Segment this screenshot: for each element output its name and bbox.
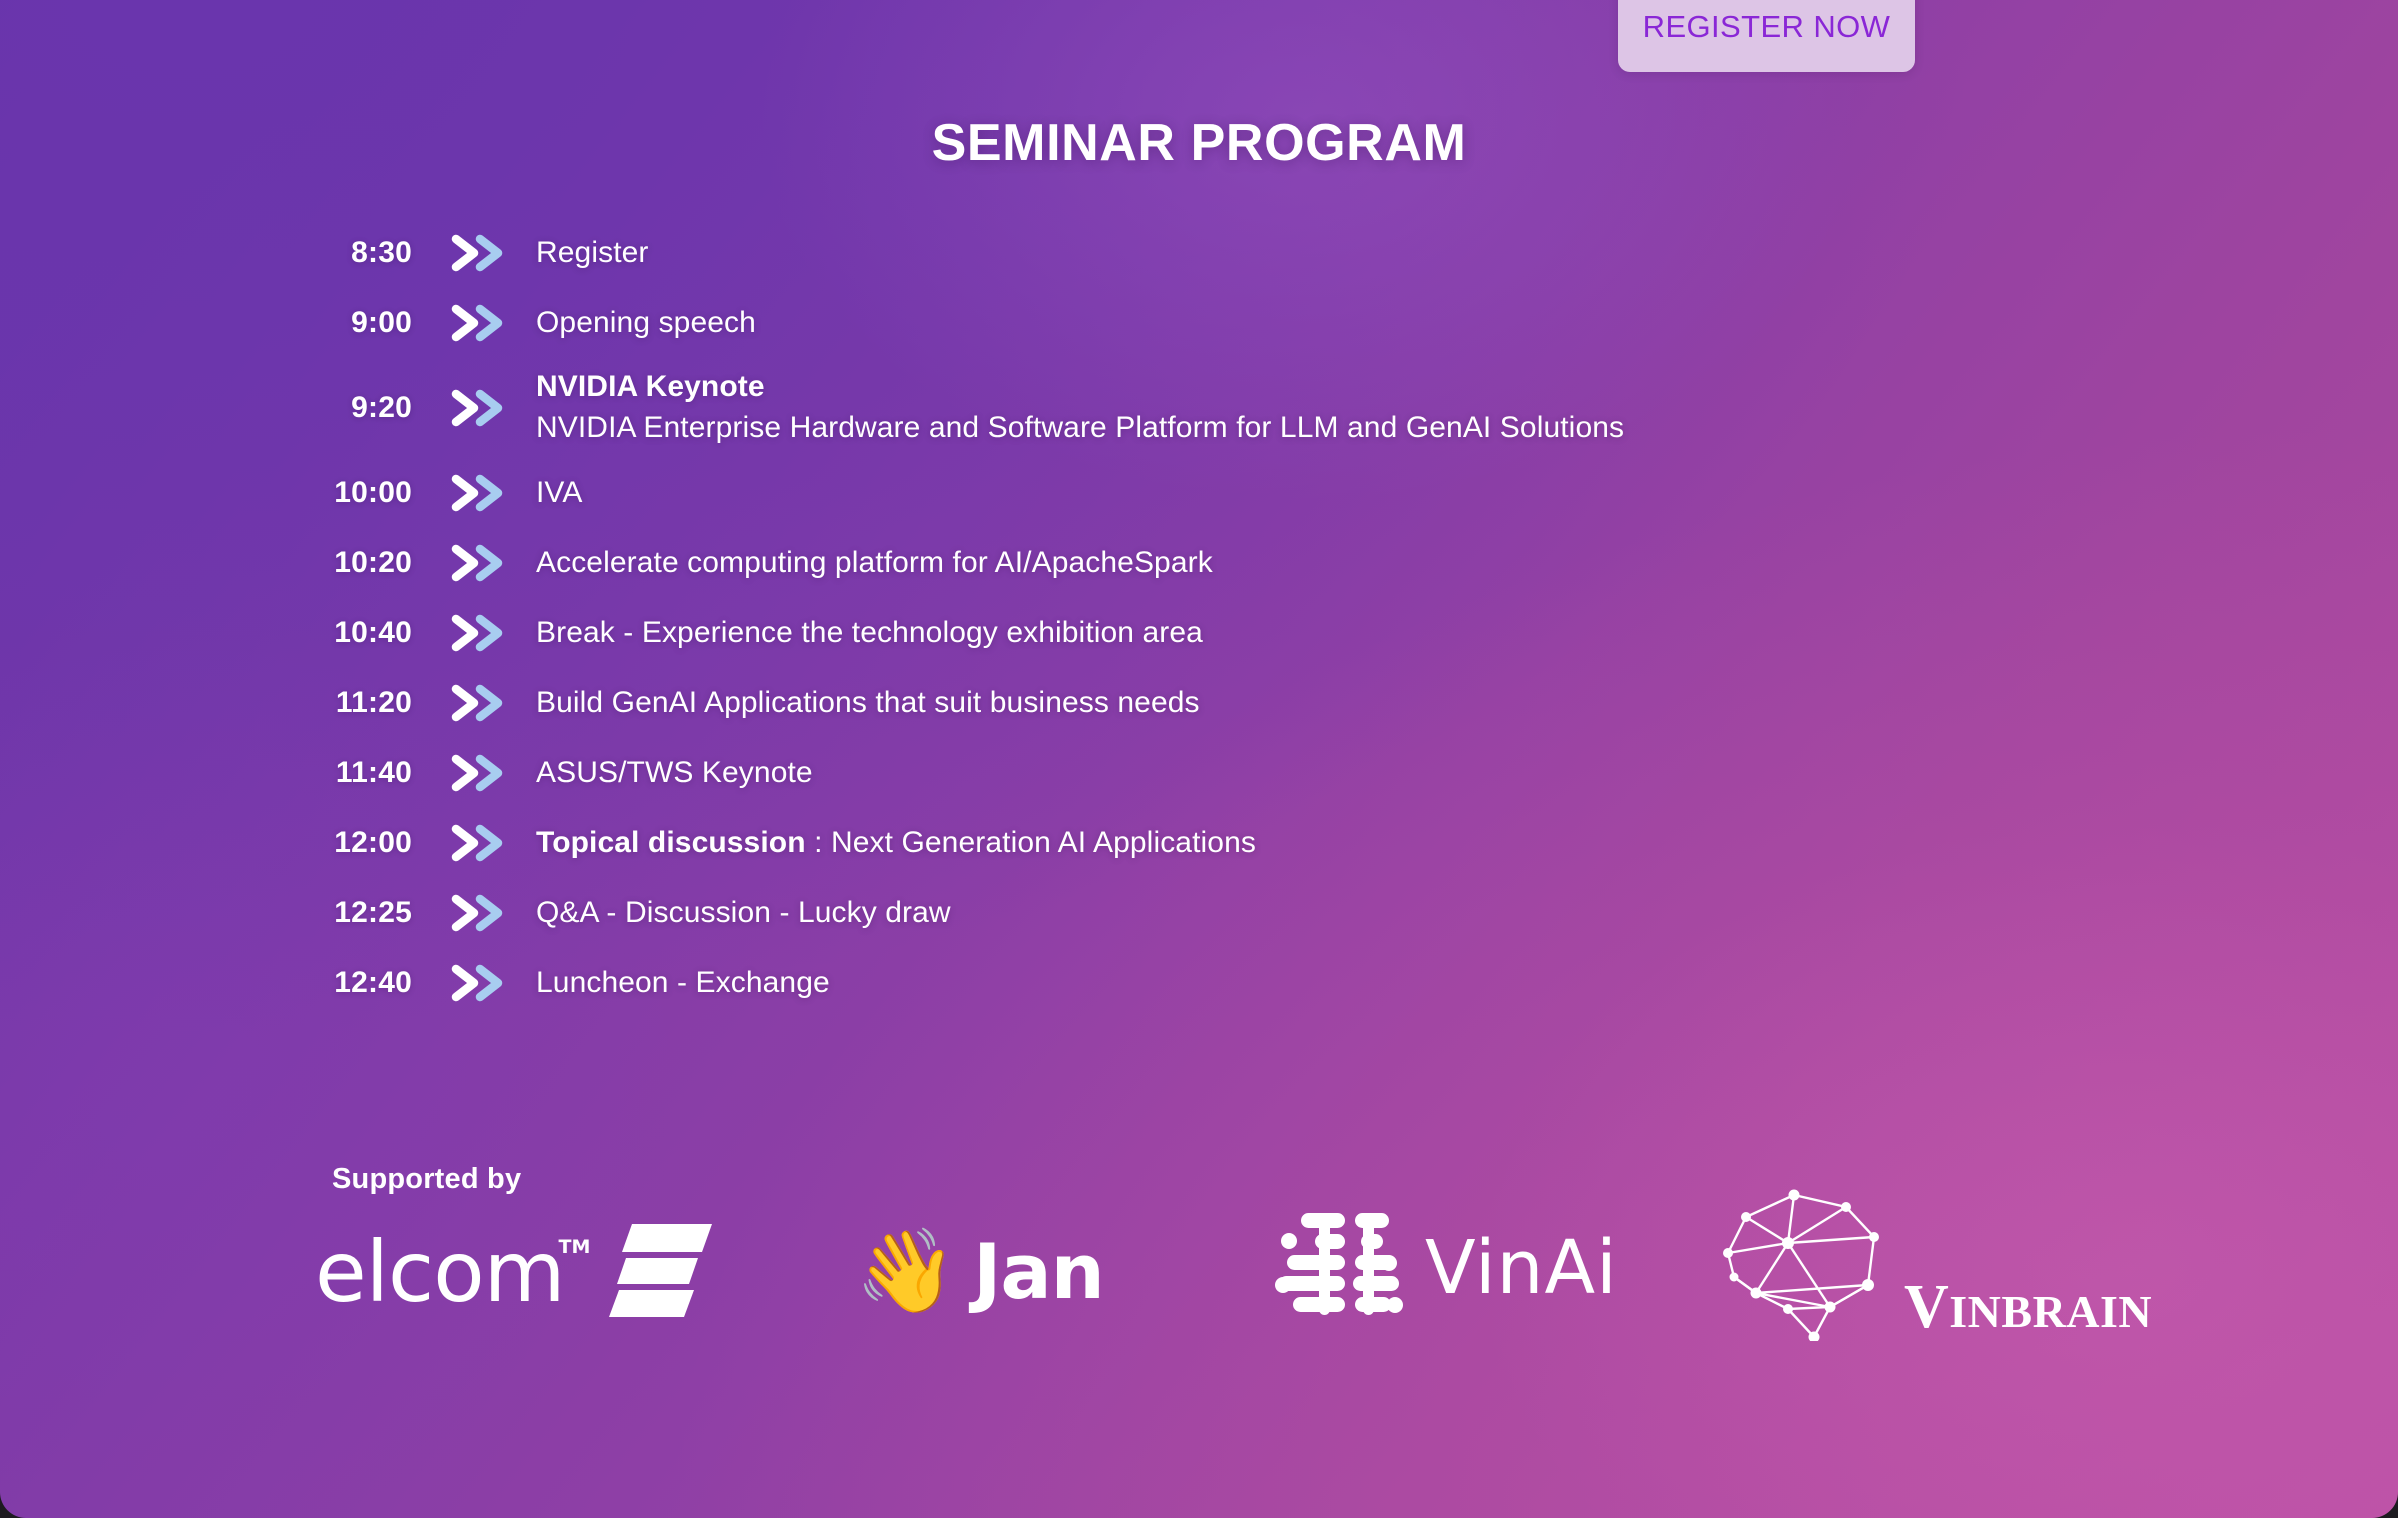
schedule-row-description: Build GenAI Applications that suit busin… bbox=[536, 683, 1200, 724]
schedule-row-title: ASUS/TWS Keynote bbox=[536, 756, 813, 789]
double-chevron-right-icon bbox=[446, 963, 514, 1003]
schedule-row-time: 8:30 bbox=[0, 236, 412, 270]
schedule-row-description: Register bbox=[536, 233, 649, 274]
jan-wordmark: Jan bbox=[973, 1234, 1104, 1310]
schedule-row-time: 9:20 bbox=[0, 391, 412, 425]
schedule-row-description: IVA bbox=[536, 473, 582, 514]
schedule-row-time: 10:00 bbox=[0, 476, 412, 510]
schedule-row-title: Q&A - Discussion - Lucky draw bbox=[536, 896, 951, 929]
register-now-button[interactable]: REGISTER NOW bbox=[1618, 0, 1915, 72]
schedule-row-subtitle: NVIDIA Enterprise Hardware and Software … bbox=[536, 408, 1624, 449]
supported-by-label: Supported by bbox=[332, 1163, 521, 1196]
schedule-row-time: 10:20 bbox=[0, 546, 412, 580]
schedule-row-time: 11:20 bbox=[0, 686, 412, 720]
schedule-row-description: Q&A - Discussion - Lucky draw bbox=[536, 893, 951, 934]
schedule-row: 11:40ASUS/TWS Keynote bbox=[0, 738, 2398, 808]
schedule-row: 12:25Q&A - Discussion - Lucky draw bbox=[0, 878, 2398, 948]
waving-hand-icon: 👋 bbox=[855, 1231, 957, 1313]
schedule-row-title: Accelerate computing platform for AI/Apa… bbox=[536, 546, 1213, 579]
schedule-row-title: Build GenAI Applications that suit busin… bbox=[536, 686, 1200, 719]
schedule-row-time: 11:40 bbox=[0, 756, 412, 790]
schedule-row: 8:30Register bbox=[0, 218, 2398, 288]
schedule-row-title: IVA bbox=[536, 476, 582, 509]
schedule-row-title: Break - Experience the technology exhibi… bbox=[536, 616, 1203, 649]
schedule-row: 10:40Break - Experience the technology e… bbox=[0, 598, 2398, 668]
schedule-row-description: Luncheon - Exchange bbox=[536, 963, 830, 1004]
schedule-row-description: Break - Experience the technology exhibi… bbox=[536, 613, 1203, 654]
schedule-row-description: Topical discussion : Next Generation AI … bbox=[536, 823, 1256, 864]
brain-network-icon bbox=[1710, 1181, 1920, 1346]
double-chevron-right-icon bbox=[446, 473, 514, 513]
schedule-row-time: 9:00 bbox=[0, 306, 412, 340]
schedule-list: 8:30Register9:00Opening speech9:20NVIDIA… bbox=[0, 218, 2398, 1018]
schedule-row-title: NVIDIA Keynote bbox=[536, 370, 765, 403]
schedule-row-title: Topical discussion bbox=[536, 826, 806, 859]
schedule-row-title: Register bbox=[536, 236, 649, 269]
double-chevron-right-icon bbox=[446, 893, 514, 933]
double-chevron-right-icon bbox=[446, 543, 514, 583]
schedule-row-title: Luncheon - Exchange bbox=[536, 966, 830, 999]
schedule-row-time: 12:25 bbox=[0, 896, 412, 930]
sponsor-logo-vinai: VinAi bbox=[1275, 1208, 1618, 1328]
schedule-row-description: Accelerate computing platform for AI/Apa… bbox=[536, 543, 1213, 584]
schedule-row: 9:00Opening speech bbox=[0, 288, 2398, 358]
double-chevron-right-icon bbox=[446, 753, 514, 793]
vinai-circuit-mark-icon bbox=[1275, 1207, 1403, 1330]
sponsor-logo-jan: 👋 Jan bbox=[855, 1212, 1104, 1332]
schedule-row-title: Opening speech bbox=[536, 306, 756, 339]
double-chevron-right-icon bbox=[446, 823, 514, 863]
schedule-row: 10:20Accelerate computing platform for A… bbox=[0, 528, 2398, 598]
seminar-program-page: REGISTER NOW SEMINAR PROGRAM 8:30Registe… bbox=[0, 0, 2398, 1518]
elcom-e-mark-icon bbox=[606, 1220, 714, 1325]
double-chevron-right-icon bbox=[446, 683, 514, 723]
double-chevron-right-icon bbox=[446, 303, 514, 343]
schedule-row: 12:00Topical discussion : Next Generatio… bbox=[0, 808, 2398, 878]
elcom-tm-mark: TM bbox=[559, 1238, 591, 1257]
schedule-row: 11:20Build GenAI Applications that suit … bbox=[0, 668, 2398, 738]
schedule-row: 12:40Luncheon - Exchange bbox=[0, 948, 2398, 1018]
sponsor-logos: elcom TM 👋 Jan bbox=[300, 1212, 2300, 1352]
vinai-wordmark: VinAi bbox=[1425, 1231, 1618, 1305]
double-chevron-right-icon bbox=[446, 233, 514, 273]
schedule-row-time: 12:40 bbox=[0, 966, 412, 1000]
elcom-wordmark: elcom TM bbox=[315, 1230, 564, 1314]
schedule-row-time: 12:00 bbox=[0, 826, 412, 860]
vinbrain-wordmark: VINBRAIN bbox=[1904, 1276, 2152, 1338]
schedule-row: 9:20NVIDIA KeynoteNVIDIA Enterprise Hard… bbox=[0, 358, 2398, 458]
schedule-row-description: ASUS/TWS Keynote bbox=[536, 753, 813, 794]
vinbrain-wordmark-cap: V bbox=[1904, 1273, 1949, 1341]
vinbrain-wordmark-rest: INBRAIN bbox=[1949, 1286, 2152, 1337]
elcom-wordmark-text: elcom bbox=[315, 1223, 564, 1321]
schedule-row: 10:00IVA bbox=[0, 458, 2398, 528]
double-chevron-right-icon bbox=[446, 613, 514, 653]
double-chevron-right-icon bbox=[446, 388, 514, 428]
schedule-row-title-rest: : Next Generation AI Applications bbox=[806, 826, 1256, 859]
page-title: SEMINAR PROGRAM bbox=[0, 113, 2398, 173]
sponsor-logo-vinbrain: VINBRAIN bbox=[1710, 1186, 2152, 1346]
schedule-row-description: NVIDIA KeynoteNVIDIA Enterprise Hardware… bbox=[536, 367, 1624, 449]
schedule-row-description: Opening speech bbox=[536, 303, 756, 344]
sponsor-logo-elcom: elcom TM bbox=[315, 1212, 714, 1332]
schedule-row-time: 10:40 bbox=[0, 616, 412, 650]
